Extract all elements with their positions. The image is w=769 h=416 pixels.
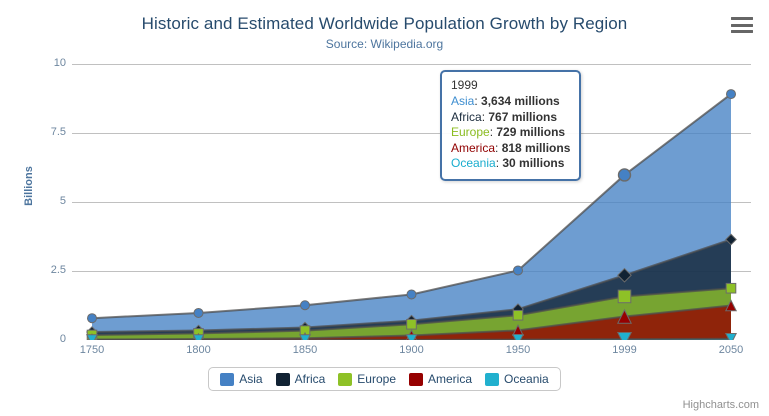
x-tick-label[interactable]: 1999: [595, 344, 655, 356]
legend-item-europe[interactable]: Europe: [338, 372, 396, 386]
tooltip-series-name: Africa: [451, 110, 482, 124]
menu-bar-3: [731, 30, 753, 33]
tooltip-header: 1999: [451, 78, 570, 92]
legend-swatch-icon: [409, 373, 423, 386]
legend-item-oceania[interactable]: Oceania: [485, 372, 549, 386]
data-point-asia[interactable]: [407, 290, 416, 299]
tooltip-row: Europe: 729 millions: [451, 125, 570, 141]
hamburger-menu-icon[interactable]: [731, 17, 753, 33]
menu-bar-2: [731, 24, 753, 27]
page-title: Historic and Estimated Worldwide Populat…: [0, 14, 769, 34]
legend-swatch-icon: [220, 373, 234, 386]
series-canvas: [72, 64, 751, 340]
data-point-asia[interactable]: [301, 301, 310, 310]
x-tick-label[interactable]: 1750: [62, 344, 122, 356]
data-point-europe[interactable]: [513, 310, 523, 320]
legend-item-america[interactable]: America: [409, 372, 472, 386]
legend-box: AsiaAfricaEuropeAmericaOceania: [208, 367, 560, 391]
highcharts-credit[interactable]: Highcharts.com: [683, 399, 759, 411]
legend-item-africa[interactable]: Africa: [276, 372, 326, 386]
data-point-asia[interactable]: [194, 308, 203, 317]
tooltip-row: Africa: 767 millions: [451, 110, 570, 126]
tooltip-separator: :: [474, 94, 481, 108]
x-tick-label[interactable]: 1950: [488, 344, 548, 356]
highcharts-chart: Historic and Estimated Worldwide Populat…: [0, 0, 769, 416]
y-tick-label: 7.5: [26, 126, 66, 138]
tooltip-series-value: 767 millions: [488, 110, 557, 124]
legend-label: Asia: [239, 372, 262, 386]
y-axis: Billions 02.557.510: [22, 0, 66, 416]
x-tick-label[interactable]: 1900: [382, 344, 442, 356]
legend-item-asia[interactable]: Asia: [220, 372, 262, 386]
plot-area: [72, 64, 751, 340]
legend-swatch-icon: [276, 373, 290, 386]
data-point-asia[interactable]: [88, 314, 97, 323]
tooltip-rows: Asia: 3,634 millionsAfrica: 767 millions…: [451, 94, 570, 172]
tooltip-series-value: 729 millions: [496, 125, 565, 139]
legend-swatch-icon: [485, 373, 499, 386]
legend-label: America: [428, 372, 472, 386]
legend-swatch-icon: [338, 373, 352, 386]
y-tick-label: 2.5: [26, 264, 66, 276]
data-point-asia[interactable]: [619, 169, 631, 181]
data-point-asia[interactable]: [514, 266, 523, 275]
data-point-europe[interactable]: [407, 319, 417, 329]
chart-legend: AsiaAfricaEuropeAmericaOceania: [0, 367, 769, 391]
tooltip-row: Asia: 3,634 millions: [451, 94, 570, 110]
legend-label: Africa: [295, 372, 326, 386]
tooltip-row: Oceania: 30 millions: [451, 156, 570, 172]
tooltip-series-name: America: [451, 141, 495, 155]
menu-bar-1: [731, 17, 753, 20]
x-tick-label[interactable]: 1800: [169, 344, 229, 356]
legend-label: Oceania: [504, 372, 549, 386]
tooltip-series-value: 30 millions: [502, 156, 564, 170]
x-tick-label[interactable]: 2050: [701, 344, 761, 356]
y-tick-label: 5: [26, 195, 66, 207]
tooltip-series-name: Europe: [451, 125, 490, 139]
tooltip-series-name: Asia: [451, 94, 474, 108]
tooltip-series-name: Oceania: [451, 156, 496, 170]
chart-subtitle: Source: Wikipedia.org: [0, 37, 769, 51]
data-point-europe[interactable]: [726, 283, 736, 293]
chart-tooltip: 1999 Asia: 3,634 millionsAfrica: 767 mil…: [440, 70, 581, 181]
tooltip-series-value: 3,634 millions: [481, 94, 560, 108]
y-tick-label: 0: [26, 333, 66, 345]
y-tick-label: 10: [26, 57, 66, 69]
tooltip-series-value: 818 millions: [502, 141, 571, 155]
tooltip-separator: :: [495, 141, 502, 155]
tooltip-row: America: 818 millions: [451, 141, 570, 157]
x-axis: 1750180018501900195019992050: [72, 344, 751, 364]
data-point-europe[interactable]: [618, 290, 631, 303]
data-point-asia[interactable]: [727, 90, 736, 99]
legend-label: Europe: [357, 372, 396, 386]
x-tick-label[interactable]: 1850: [275, 344, 335, 356]
